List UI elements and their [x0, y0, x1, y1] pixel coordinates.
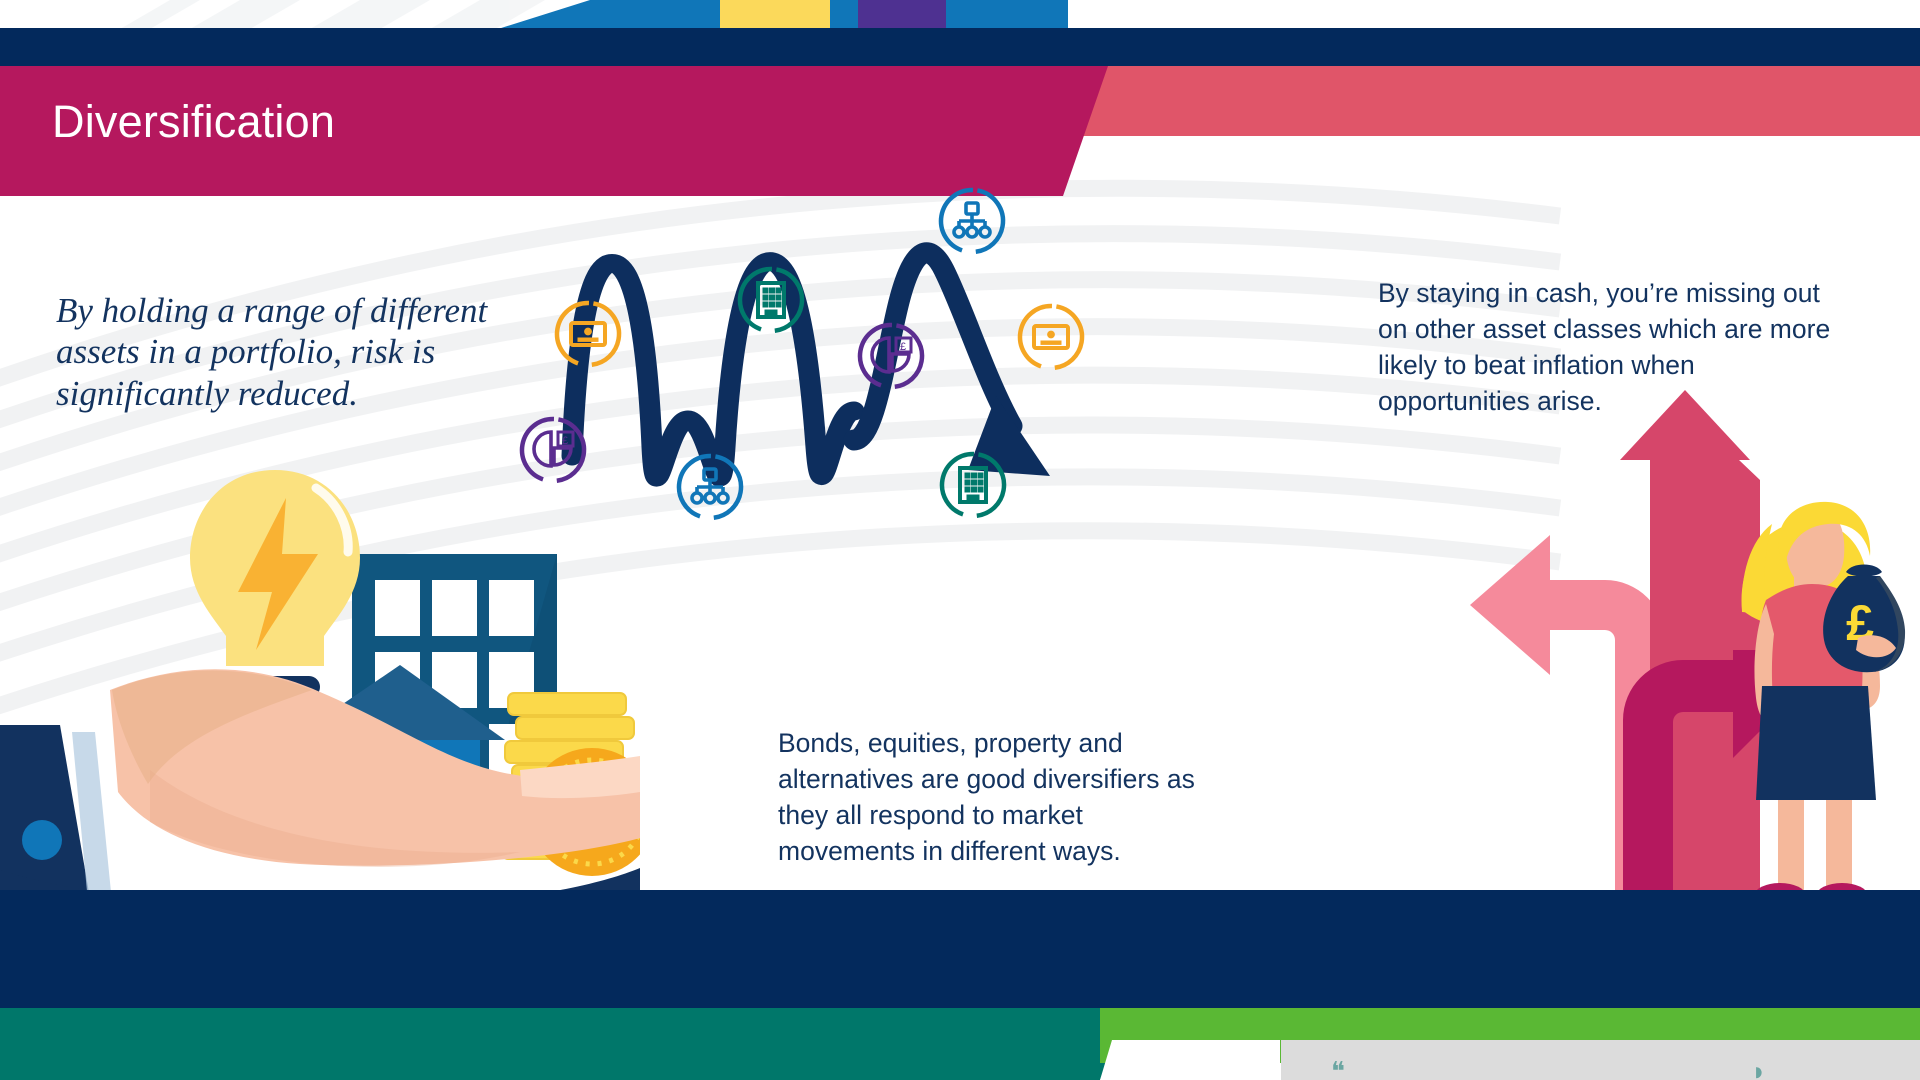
bottom-teal-band [0, 1008, 1130, 1080]
pie-chart-gbp-icon: £ [855, 320, 927, 392]
logo-mark-icon: ◗ [1751, 1058, 1767, 1080]
org-chart-icon [936, 185, 1008, 257]
skirt [1756, 686, 1876, 800]
svg-text:£: £ [562, 435, 568, 447]
left-leg [1778, 800, 1804, 892]
cash-banknote-icon [552, 298, 624, 370]
bottom-navy-band [0, 890, 1920, 1008]
org-chart-icon [674, 451, 746, 523]
cash-banknote-icon [1015, 301, 1087, 373]
right-leg [1826, 800, 1852, 892]
bottom-gray-panel: ❝ ◗ [1281, 1040, 1920, 1080]
middle-caption-text: Bonds, equities, property and alternativ… [778, 725, 1218, 869]
bottom-white-wedge [1100, 1040, 1280, 1080]
slide-canvas: Diversification By holding a range of di… [0, 0, 1920, 1080]
svg-text:£: £ [900, 341, 906, 353]
pie-chart-gbp-icon: £ [517, 414, 589, 486]
building-icon [937, 449, 1009, 521]
woman-with-money-bag-illustration: £ [1700, 500, 1920, 920]
building-icon [735, 264, 807, 336]
quote-mark-icon: ❝ [1331, 1058, 1345, 1080]
